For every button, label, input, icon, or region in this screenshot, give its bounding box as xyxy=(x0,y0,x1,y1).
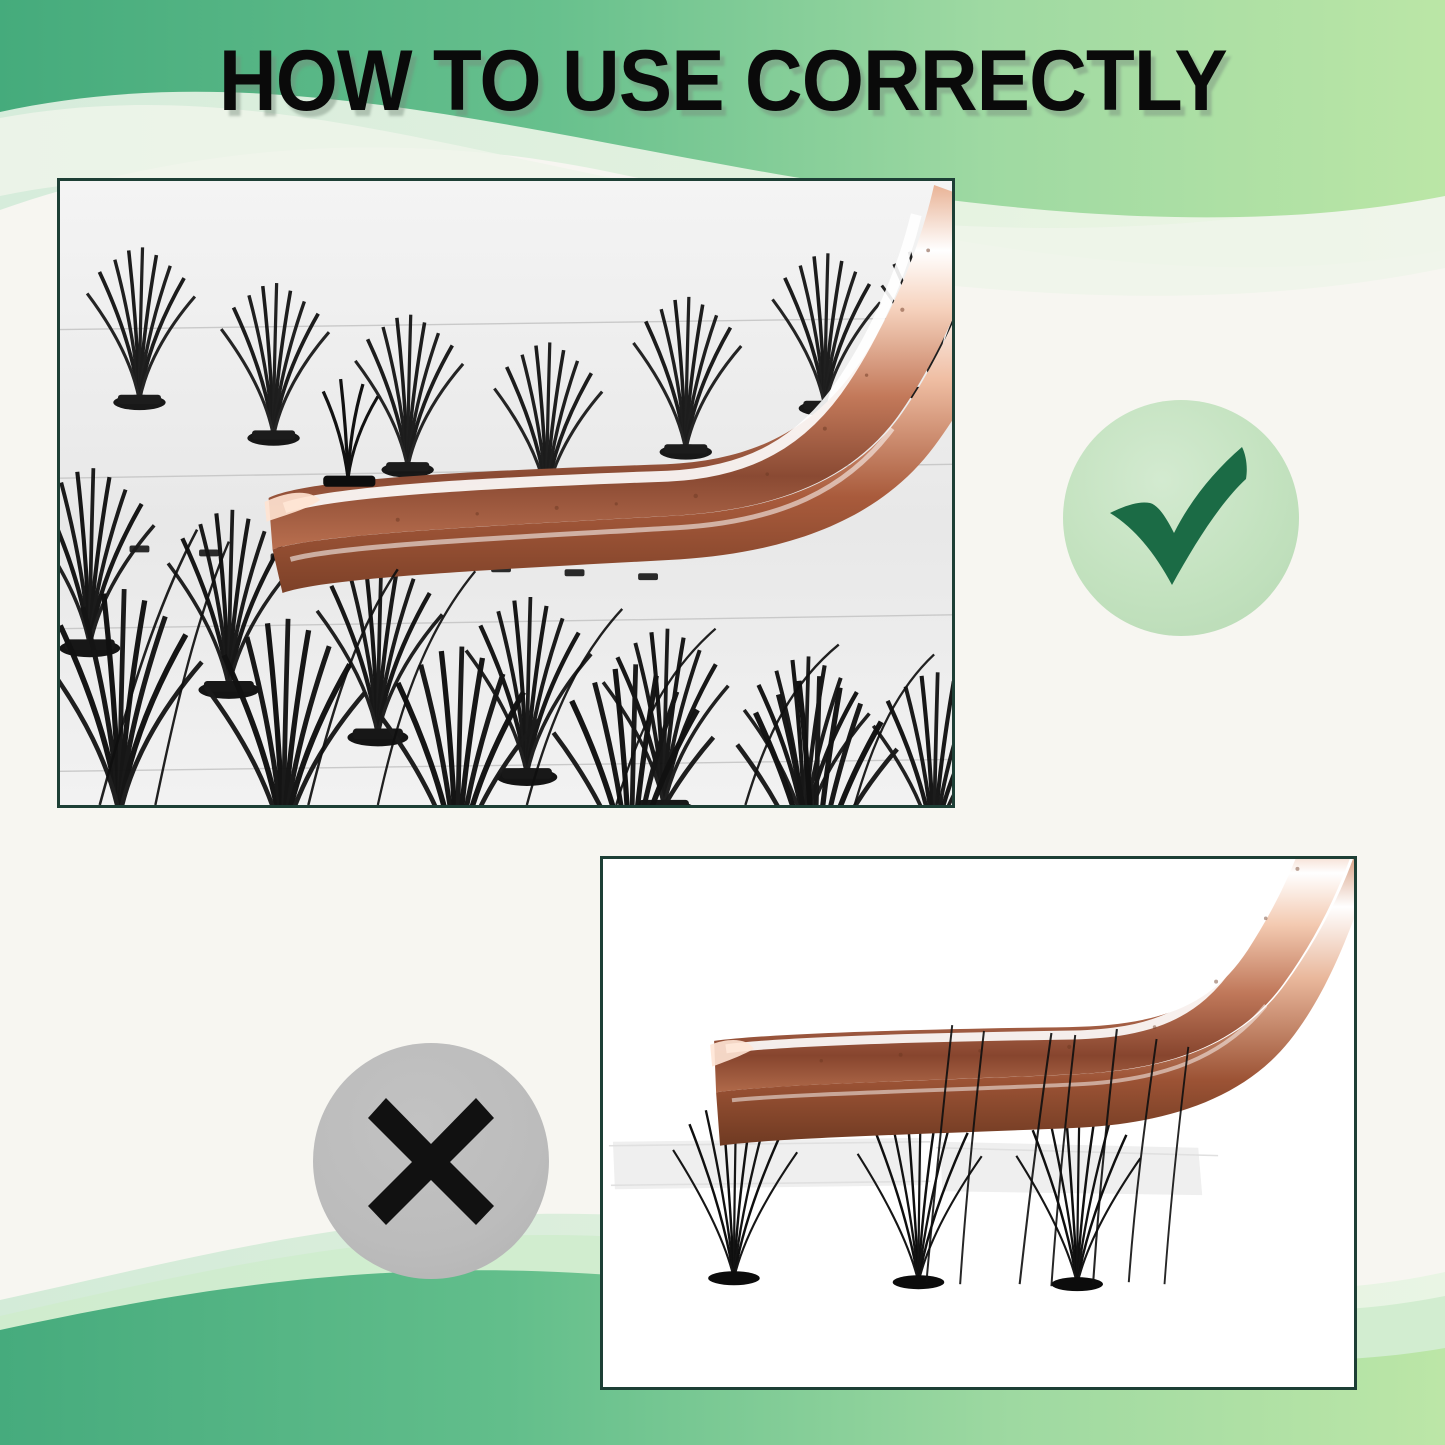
correct-usage-photo xyxy=(57,178,955,808)
correct-usage-photo-art xyxy=(60,181,952,805)
poster-root: HOW TO USE CORRECTLY xyxy=(0,0,1445,1445)
incorrect-usage-photo-art xyxy=(603,859,1354,1387)
page-title-container: HOW TO USE CORRECTLY xyxy=(0,38,1445,124)
page-title: HOW TO USE CORRECTLY xyxy=(219,38,1227,124)
incorrect-usage-photo xyxy=(600,856,1357,1390)
cross-icon xyxy=(356,1086,506,1236)
check-badge xyxy=(1063,400,1299,636)
check-icon xyxy=(1096,433,1266,603)
cross-badge xyxy=(313,1043,549,1279)
